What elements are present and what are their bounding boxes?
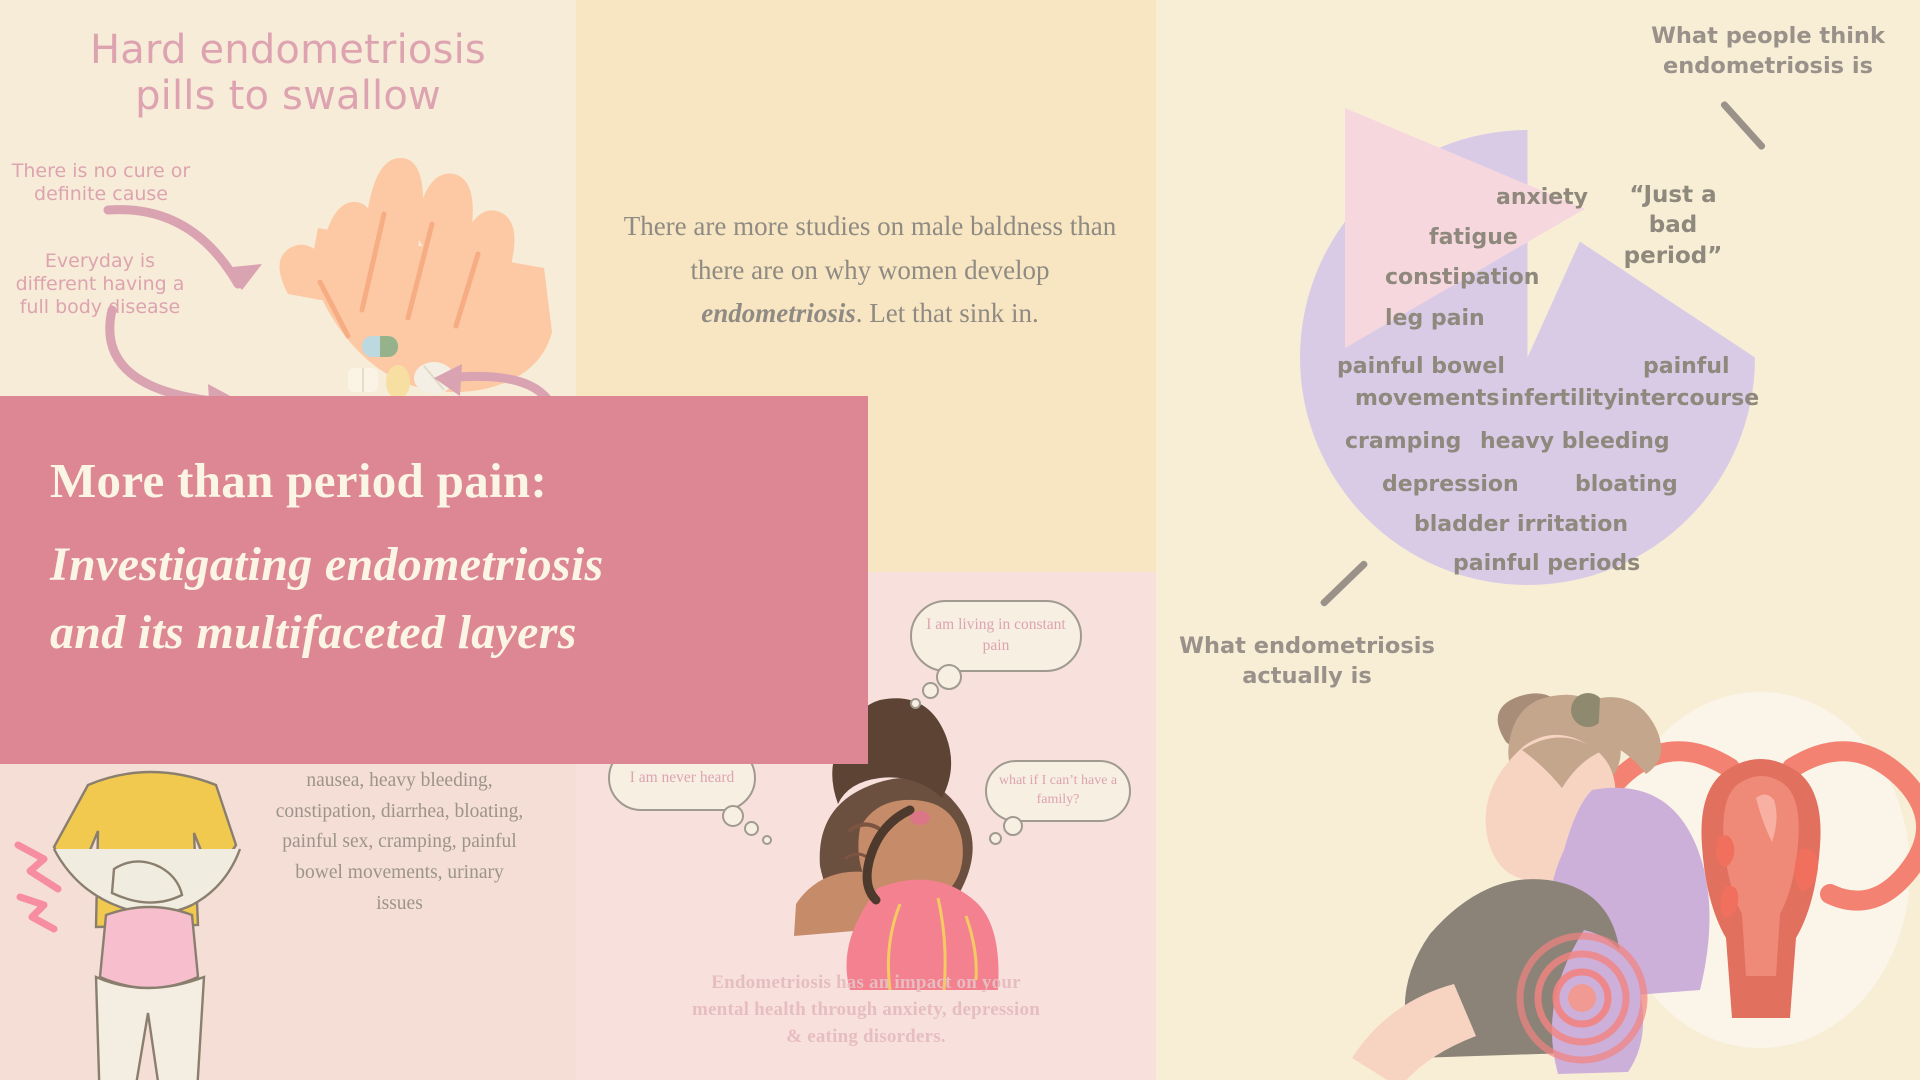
left-heading-line-1: Hard endometriosis [0, 28, 576, 74]
mental-health-caption: Endometriosis has an impact on your ment… [690, 970, 1042, 1051]
pie-label-painful-bowel: painful bowel [1337, 354, 1505, 379]
pie-label-painful: painful [1643, 354, 1730, 379]
thought-puff-medium [744, 821, 759, 836]
thought-puff-small [762, 835, 772, 845]
thought-bubble-3-text: what if I can’t have a family? [997, 772, 1119, 810]
abdominal-pain-illustration [10, 745, 290, 1080]
title-line-3: and its multifaceted layers [50, 599, 868, 667]
pie-label-cramping: cramping [1345, 429, 1461, 454]
pie-label-intercourse: intercourse [1617, 386, 1759, 411]
title-line-1: More than period pain: [50, 454, 868, 509]
infographic-canvas: Hard endometriosis pills to swallow Ther… [0, 0, 1920, 1080]
fact-quote-bold: endometriosis [701, 298, 856, 328]
pie-label-constipation: constipation [1385, 265, 1539, 290]
pie-label-leg-pain: leg pain [1385, 306, 1485, 331]
title-banner: More than period pain: Investigating end… [0, 396, 868, 764]
thought-bubble-family: what if I can’t have a family? [985, 760, 1131, 822]
thought-bubble-1-text: I am living in constant pain [926, 615, 1066, 657]
pie-label-infertility: infertility [1501, 386, 1618, 411]
pie-label-depression: depression [1382, 472, 1519, 497]
left-heading: Hard endometriosis pills to swallow [0, 28, 576, 119]
thought-puff-large [722, 805, 744, 827]
thought-bubble-2-text: I am never heard [630, 768, 735, 789]
myth-label-line-3: period” [1613, 241, 1733, 271]
fact-quote: There are more studies on male baldness … [620, 205, 1120, 336]
callout-what-people-think: What people think endometriosis is [1638, 22, 1898, 82]
thought-puff-large [1003, 816, 1023, 836]
fact-quote-after: . Let that sink in. [856, 298, 1039, 328]
thought-puff-medium [922, 682, 939, 699]
pie-label-fatigue: fatigue [1429, 225, 1518, 250]
left-heading-line-2: pills to swallow [0, 74, 576, 120]
curled-woman-pain-illustration [1300, 680, 1920, 1080]
pie-label-bladder-irritation: bladder irritation [1414, 512, 1628, 537]
thought-puff-large [936, 664, 962, 690]
pie-label-anxiety: anxiety [1496, 185, 1588, 210]
thought-puff-small [910, 698, 921, 709]
fact-quote-before: There are more studies on male baldness … [624, 211, 1117, 285]
thought-puff-medium [989, 832, 1002, 845]
myth-label-line-1: “Just a [1613, 180, 1733, 210]
thought-bubble-constant-pain: I am living in constant pain [910, 600, 1082, 672]
pie-label-bloating: bloating [1575, 472, 1678, 497]
title-line-2: Investigating endometriosis [50, 531, 868, 599]
pie-label-heavy-bleeding: heavy bleeding [1480, 429, 1670, 454]
pie-slice-myth-label: “Just abadperiod” [1613, 180, 1733, 271]
pie-label-movements: movements [1355, 386, 1499, 411]
myth-label-line-2: bad [1613, 210, 1733, 240]
pie-label-painful-periods: painful periods [1453, 551, 1640, 576]
